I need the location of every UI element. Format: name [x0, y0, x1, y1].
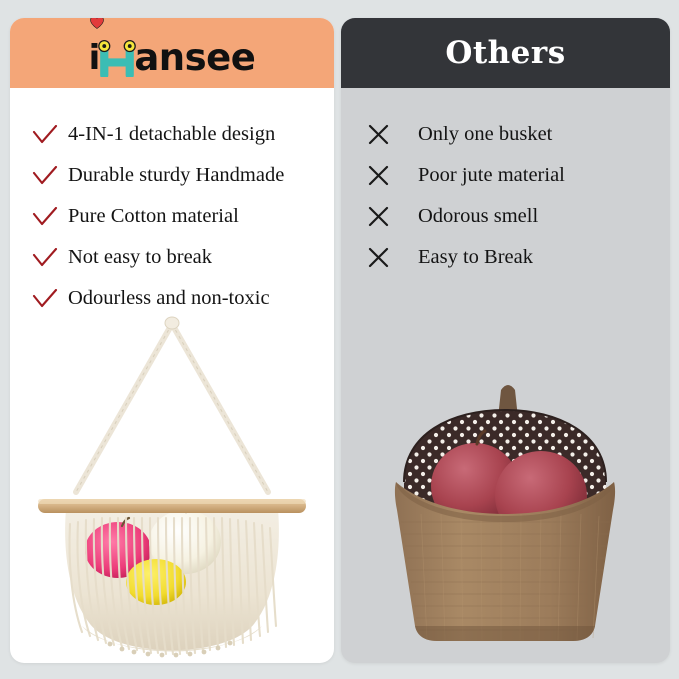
cross-icon [368, 124, 418, 145]
feature-label: Not easy to break [68, 246, 212, 269]
check-icon [32, 125, 68, 145]
cross-icon [368, 247, 418, 268]
brand-logo: i ansee [89, 29, 256, 77]
cross-icon [368, 206, 418, 227]
jute-basket-image [341, 314, 670, 663]
list-item: Not easy to break [10, 237, 334, 278]
check-icon [32, 248, 68, 268]
macrame-basket-image [10, 314, 334, 663]
feature-label: Odorous smell [418, 205, 538, 228]
feature-label: Only one busket [418, 123, 552, 146]
brand-feature-list: 4-IN-1 detachable design Durable sturdy … [10, 114, 334, 319]
heart-icon [90, 18, 104, 27]
check-icon [32, 207, 68, 227]
brand-panel-header: i ansee [10, 18, 334, 88]
list-item: 4-IN-1 detachable design [10, 114, 334, 155]
others-panel-header: Others [341, 18, 670, 88]
check-icon [32, 289, 68, 309]
list-item: Only one busket [341, 114, 670, 155]
brand-letters-ansee: ansee [134, 39, 255, 77]
list-item: Easy to Break [341, 237, 670, 278]
comparison-infographic: i ansee [0, 0, 679, 679]
others-panel: Others Only one busket Poor jute materia… [341, 18, 670, 663]
feature-label: Odourless and non-toxic [68, 287, 270, 310]
feature-label: Pure Cotton material [68, 205, 239, 228]
check-icon [32, 166, 68, 186]
list-item: Odorous smell [341, 196, 670, 237]
feature-label: Durable sturdy Handmade [68, 164, 284, 187]
list-item: Poor jute material [341, 155, 670, 196]
feature-label: Poor jute material [418, 164, 565, 187]
list-item: Durable sturdy Handmade [10, 155, 334, 196]
others-feature-list: Only one busket Poor jute material Odoro… [341, 114, 670, 278]
cross-icon [368, 165, 418, 186]
brand-letter-h [98, 37, 136, 77]
list-item: Pure Cotton material [10, 196, 334, 237]
feature-label: 4-IN-1 detachable design [68, 123, 275, 146]
feature-label: Easy to Break [418, 246, 533, 269]
list-item: Odourless and non-toxic [10, 278, 334, 319]
page-title: Others [445, 35, 565, 71]
brand-panel: i ansee [10, 18, 334, 663]
